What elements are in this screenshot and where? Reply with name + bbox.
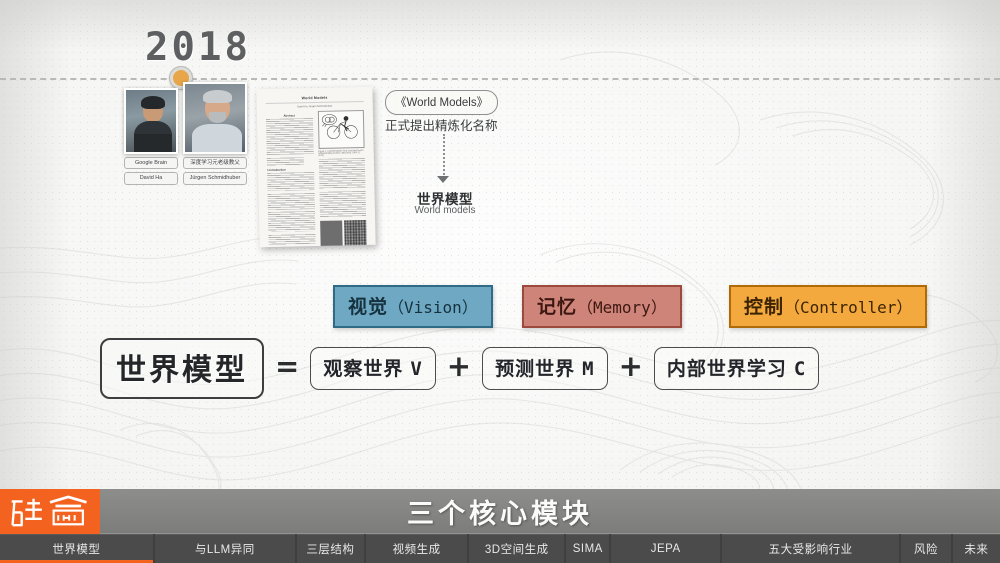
- timeline-year-label: 2018: [145, 25, 251, 70]
- chapter-tab-bar: 世界模型 与LLM异同 三层结构 视频生成 3D空间生成 SIMA JEPA 五…: [0, 534, 1000, 563]
- module-chip-label-cn: 记忆: [537, 297, 577, 318]
- section-title-bar: 三个核心模块: [0, 489, 1000, 534]
- equation-term-memory: 预测世界M: [482, 347, 607, 390]
- tab-video-generation[interactable]: 视频生成: [366, 534, 468, 563]
- section-title: 三个核心模块: [407, 492, 593, 531]
- guigu101-logo-icon: [8, 494, 92, 529]
- tab-three-layer-structure[interactable]: 三层结构: [297, 534, 364, 563]
- equation-subject: 世界模型: [100, 338, 264, 399]
- world-model-label-en: World models: [405, 205, 485, 216]
- equation-term-label: 观察世界: [323, 359, 403, 380]
- annotation-connector-line: [443, 134, 445, 178]
- world-model-equation: 世界模型 = 观察世界V + 预测世界M + 内部世界学习C: [100, 338, 819, 399]
- module-chip-label-en: （Memory）: [577, 298, 667, 317]
- equation-plus-sign-2: +: [617, 349, 645, 389]
- module-chip-vision[interactable]: 视觉（Vision）: [333, 285, 493, 328]
- module-chip-label-cn: 控制: [744, 297, 784, 318]
- equation-term-symbol: V: [410, 358, 422, 380]
- slide-canvas: 2018 Google Brain David Ha 深度学习元老级教父 Jür…: [0, 0, 1000, 563]
- module-chip-label-en: （Vision）: [388, 298, 478, 317]
- equation-term-label: 内部世界学习: [667, 359, 787, 380]
- person-org-label: 深度学习元老级教父: [183, 157, 247, 169]
- module-chip-controller[interactable]: 控制（Controller）: [729, 285, 927, 328]
- paper-authors: David Ha Jürgen Schmidhuber: [266, 104, 364, 109]
- paper-figure-latent-grid: [320, 219, 367, 247]
- tab-label: 世界模型: [52, 541, 100, 557]
- tab-risks[interactable]: 风险: [901, 534, 950, 563]
- tab-world-model[interactable]: 世界模型: [0, 534, 153, 563]
- tab-label: SIMA: [573, 543, 603, 555]
- paper-thumbnail[interactable]: World Models David Ha Jürgen Schmidhuber…: [256, 87, 375, 247]
- paper-title: World Models: [266, 95, 364, 104]
- tab-3d-space-generation[interactable]: 3D空间生成: [469, 534, 564, 563]
- paper-title-tag: 《World Models》: [385, 90, 498, 115]
- annotation-subtitle: 正式提出精炼化名称: [385, 115, 498, 134]
- equation-term-controller: 内部世界学习C: [654, 347, 819, 390]
- tab-label: 视频生成: [393, 541, 441, 557]
- tab-label: 三层结构: [306, 541, 354, 557]
- tab-label: 与LLM异同: [195, 541, 255, 557]
- person-card-schmidhuber: 深度学习元老级教父 Jürgen Schmidhuber: [183, 82, 247, 185]
- person-name-label: Jürgen Schmidhuber: [183, 172, 247, 184]
- annotation-arrowhead-icon: [437, 176, 449, 183]
- paper-figure1-caption: Figure 1: A World Model, from Scott McCl…: [318, 150, 365, 157]
- tab-future[interactable]: 未来: [953, 534, 1000, 563]
- tab-five-affected-industries[interactable]: 五大受影响行业: [722, 534, 899, 563]
- tab-label: JEPA: [651, 543, 681, 555]
- equation-equals-sign: =: [273, 349, 301, 389]
- channel-logo[interactable]: [0, 489, 100, 534]
- person-name-label: David Ha: [124, 172, 178, 184]
- tab-label: 五大受影响行业: [769, 541, 853, 557]
- module-chip-label-cn: 视觉: [348, 297, 388, 318]
- equation-term-symbol: C: [794, 358, 806, 380]
- tab-label: 未来: [964, 541, 988, 557]
- background-vignette: [0, 0, 1000, 563]
- module-chip-memory[interactable]: 记忆（Memory）: [522, 285, 682, 328]
- equation-term-symbol: M: [582, 358, 594, 380]
- tab-sima[interactable]: SIMA: [566, 534, 609, 563]
- tab-label: 3D空间生成: [485, 541, 549, 557]
- equation-term-vision: 观察世界V: [310, 347, 435, 390]
- portrait-photo-schmidhuber: [183, 82, 247, 154]
- equation-term-label: 预测世界: [495, 359, 575, 380]
- tab-label: 风险: [914, 541, 938, 557]
- tab-llm-comparison[interactable]: 与LLM异同: [155, 534, 295, 563]
- portrait-photo-david-ha: [124, 88, 178, 154]
- paper-figure-cyclist: [317, 110, 364, 149]
- timeline-dashed-line: [0, 78, 1000, 80]
- tab-jepa[interactable]: JEPA: [611, 534, 719, 563]
- module-chip-label-en: （Controller）: [784, 298, 912, 317]
- person-card-david-ha: Google Brain David Ha: [124, 88, 178, 185]
- equation-plus-sign-1: +: [445, 349, 473, 389]
- person-org-label: Google Brain: [124, 157, 178, 169]
